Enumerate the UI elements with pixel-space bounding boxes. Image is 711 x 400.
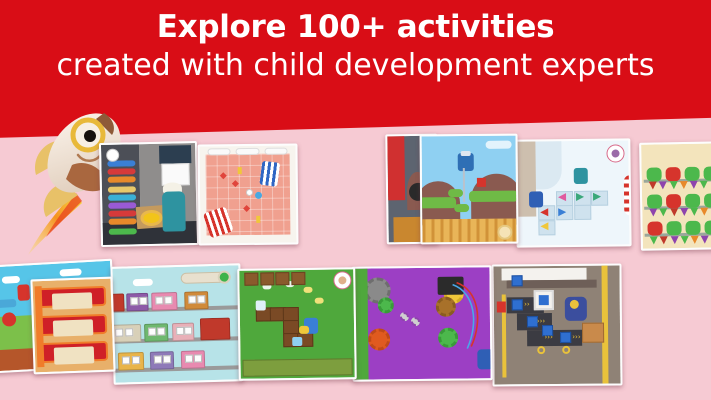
wire-icon xyxy=(449,278,488,356)
activity-tile-factory-conveyor[interactable]: ›› ››› ››› ››› xyxy=(491,263,622,386)
activity-screenshot-gears xyxy=(353,267,490,379)
activity-screenshot-factory: ›› ››› ››› ››› xyxy=(493,265,620,384)
shield-icon xyxy=(106,149,119,162)
activity-tile-snow-arrows[interactable] xyxy=(515,138,631,247)
activity-screenshot-train-sorting xyxy=(112,265,241,382)
activity-tile-red-menu[interactable] xyxy=(30,277,115,375)
player-avatar-badge xyxy=(333,271,351,289)
activity-screenshot-sky-jumper xyxy=(422,136,517,243)
activity-tile-pink-grid[interactable] xyxy=(197,143,298,245)
activity-tile-gears[interactable] xyxy=(351,265,492,381)
activity-screenshot-pizza xyxy=(101,143,197,245)
activity-tile-monster-shelf[interactable] xyxy=(639,141,711,251)
activity-tile-garden-blocks[interactable] xyxy=(237,267,357,381)
activity-tile-train-sorting[interactable] xyxy=(110,263,243,385)
activity-screenshot-snow-arrows xyxy=(517,140,629,245)
player-avatar-badge xyxy=(606,145,624,163)
activity-screenshot-pink-grid xyxy=(199,146,296,244)
activity-tile-sky-jumper[interactable] xyxy=(420,134,519,245)
promo-screenshot: Explore 100+ activities created with chi… xyxy=(0,0,711,400)
activity-screenshot-monster-shelf xyxy=(641,143,711,248)
activity-screenshot-red-menu xyxy=(32,279,113,373)
activity-screenshot-garden-blocks xyxy=(239,269,354,379)
activity-tile-pizza-kitchen[interactable] xyxy=(99,141,199,247)
